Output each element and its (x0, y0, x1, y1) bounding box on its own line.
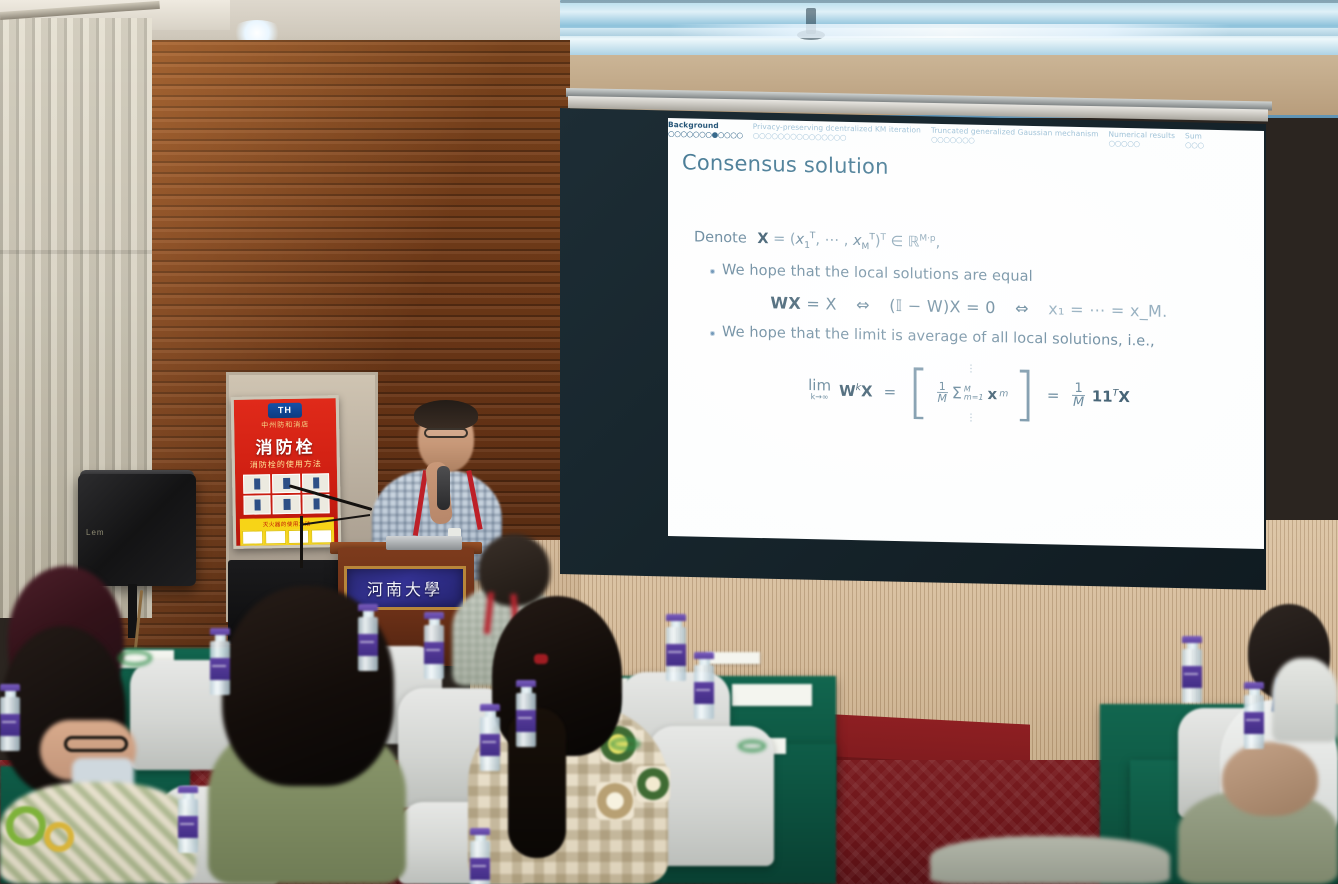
presentation-slide: Background ○○○○○○○●○○○○ Privacy-preservi… (668, 118, 1264, 549)
poster-subheading: 消防栓的使用方法 (235, 458, 337, 471)
paper-sheet (706, 652, 760, 664)
poster-extinguisher-icon (265, 530, 286, 544)
slide-nav-section-summary: Sum ○○○ (1185, 129, 1204, 150)
poster-brand-logo: TH (268, 403, 302, 419)
presenter-hair (414, 400, 478, 430)
paper-sheet (732, 684, 812, 706)
eq1-term1: WX (770, 293, 801, 313)
matrix-sum-symbol: Σ (952, 383, 962, 402)
bottle-label (210, 658, 230, 680)
podium-laptop (386, 536, 462, 550)
table-tag (610, 738, 640, 750)
bullet-dot-icon (710, 269, 715, 274)
poster-step-icon (273, 495, 301, 514)
loudspeaker-logo: Lem (86, 528, 105, 537)
slide-nav-section-truncated: Truncated generalized Gaussian mechanism… (931, 124, 1099, 148)
poster-heading: 消防栓 (234, 432, 336, 459)
slide-bullet-1: We hope that the local solutions are equ… (688, 261, 1250, 289)
slide-denote-line: Denote X = (x1T, ⋯ , xMT)T ∈ ℝM·p, (694, 229, 1250, 261)
matrix-var: x (988, 385, 998, 403)
eq2-rhs-fraction: 1 M (1072, 381, 1084, 410)
slide-nav-section-privacy: Privacy-preserving dcentralized KM itera… (753, 120, 921, 144)
slide-nav-section-numerical: Numerical results ○○○○○ (1109, 128, 1176, 150)
bottle-cap (210, 628, 230, 635)
slide-nav-section-background: Background ○○○○○○○●○○○○ (668, 118, 743, 140)
poster-extinguisher-icons (242, 529, 332, 545)
slide-equation-2: lim k→∞ WkX = [ ⋮ 1 M Σ (688, 357, 1250, 429)
water-bottle (516, 680, 536, 747)
poster-extinguisher-icon (288, 530, 309, 544)
matrix-sum-limits: M m=1 (964, 385, 984, 401)
ceiling-seam (560, 0, 1338, 3)
audience-person-body (1272, 658, 1338, 742)
curtain-seam (0, 250, 152, 254)
matrix-bracket-left: [ (907, 374, 930, 410)
poster-instruction-grid (235, 469, 338, 515)
water-bottle (424, 612, 444, 679)
eq2-matrix-column: ⋮ 1 M Σ M m=1 xm ⋮ (935, 363, 1008, 425)
matrix-fraction: 1 M (937, 381, 948, 405)
venue-name-text: 河南大學 (367, 576, 443, 600)
slide-bullet-2: We hope that the limit is average of all… (688, 323, 1250, 351)
slide-title: Consensus solution (682, 150, 889, 179)
poster-company: 中州防和消店 (234, 419, 336, 431)
eq1-rel1: = X (806, 294, 836, 314)
sweater-pattern-circle (6, 806, 46, 846)
eq2-equals-2: = (1047, 386, 1060, 404)
crochet-motif (636, 766, 670, 802)
presenter-glasses (424, 428, 468, 438)
table-tag (118, 650, 152, 666)
water-bottle (178, 786, 198, 853)
audience-person-head (1222, 742, 1318, 816)
water-bottle (0, 684, 20, 751)
sweater-pattern-circle (44, 822, 74, 852)
water-bottle (358, 604, 378, 671)
poster-step-icon (243, 474, 271, 493)
audience-glasses (64, 736, 128, 752)
eq1-term3: x₁ = ⋯ = x_M. (1048, 299, 1167, 321)
poster-extinguisher-icon (242, 530, 263, 544)
water-bottle (470, 828, 490, 884)
fire-hydrant-poster: TH 中州防和消店 消防栓 消防栓的使用方法 灭火器的使用方法 119 (231, 395, 342, 549)
crochet-motif (596, 782, 634, 820)
eq1-iff2: ⇔ (1015, 298, 1029, 317)
matrix-vdots-bottom: ⋮ (966, 412, 977, 423)
poster-step-icon (243, 495, 271, 514)
bottle-body (210, 641, 230, 695)
water-bottle (1182, 636, 1202, 703)
eq2-rhs-term: 11TX (1092, 387, 1130, 406)
water-bottle (694, 652, 714, 719)
eq1-iff1: ⇔ (856, 295, 870, 314)
poster-extinguisher-icon (311, 529, 332, 543)
audience-person-body (930, 836, 1170, 884)
eq2-limit: lim k→∞ (808, 378, 831, 402)
poster-step-icon (272, 474, 300, 493)
water-bottle (480, 704, 500, 771)
lecture-hall-photo: TH 中州防和消店 消防栓 消防栓的使用方法 灭火器的使用方法 119 (0, 0, 1338, 884)
water-bottle (210, 628, 230, 695)
slide-equation-1: WX = X ⇔ (𝕀 − W)X = 0 ⇔ x₁ = ⋯ = x_M. (688, 291, 1250, 322)
eq2-W: WkX (839, 381, 873, 400)
matrix-entry: 1 M Σ M m=1 xm (935, 381, 1008, 407)
ceiling-fluorescent-tube (560, 24, 1338, 38)
eq2-equals-1: = (884, 382, 897, 400)
water-bottle (1244, 682, 1264, 749)
slide-body: Denote X = (x1T, ⋯ , xMT)T ∈ ℝM·p, We ho… (688, 228, 1250, 429)
table-tag (738, 740, 766, 752)
matrix-bracket-right: ] (1013, 376, 1036, 412)
water-bottle (666, 614, 686, 681)
eq1-term2: (𝕀 − W)X = 0 (889, 296, 995, 317)
denote-prefix: Denote (694, 229, 747, 246)
matrix-vdots-top: ⋮ (966, 363, 977, 374)
microphone (437, 466, 450, 510)
bullet-dot-icon (710, 331, 715, 336)
hair-tie (534, 654, 548, 664)
